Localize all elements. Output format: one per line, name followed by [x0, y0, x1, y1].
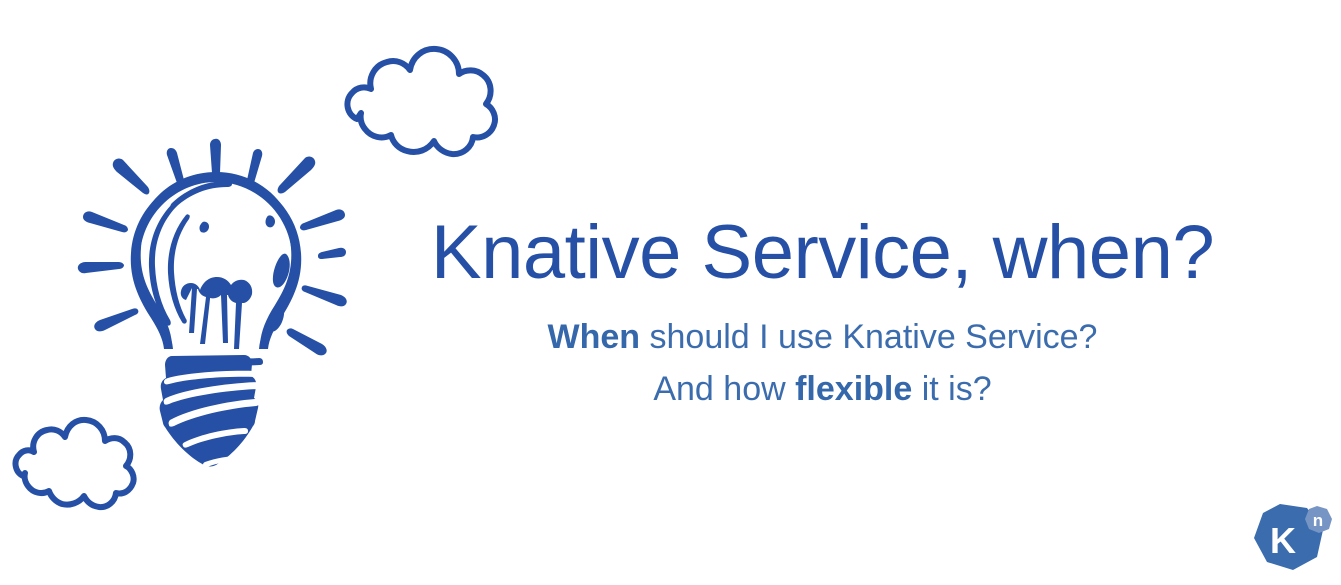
subtitle-line-1-bold: When	[548, 318, 641, 356]
subtitle-line-2: And how flexible it is?	[340, 364, 1305, 416]
subtitle-line-2-suffix: it is?	[912, 370, 991, 408]
page-title: Knative Service, when?	[340, 214, 1305, 292]
subtitle-line-1-rest: should I use Knative Service?	[640, 318, 1097, 356]
lightbulb-icon	[78, 139, 347, 468]
slide-text-block: Knative Service, when? When should I use…	[340, 214, 1305, 416]
subtitle-line-1: When should I use Knative Service?	[340, 312, 1305, 364]
cloud-top-icon	[347, 49, 495, 154]
slide-canvas: Knative Service, when? When should I use…	[0, 0, 1341, 585]
knative-logo-n-letter: n	[1313, 511, 1323, 530]
knative-logo-k-letter: K	[1270, 520, 1296, 561]
page-subtitle: When should I use Knative Service? And h…	[340, 292, 1305, 415]
knative-logo: K n	[1249, 500, 1333, 580]
cloud-bottom-icon	[16, 420, 134, 507]
subtitle-line-2-bold: flexible	[795, 370, 912, 408]
subtitle-line-2-prefix: And how	[653, 370, 795, 408]
